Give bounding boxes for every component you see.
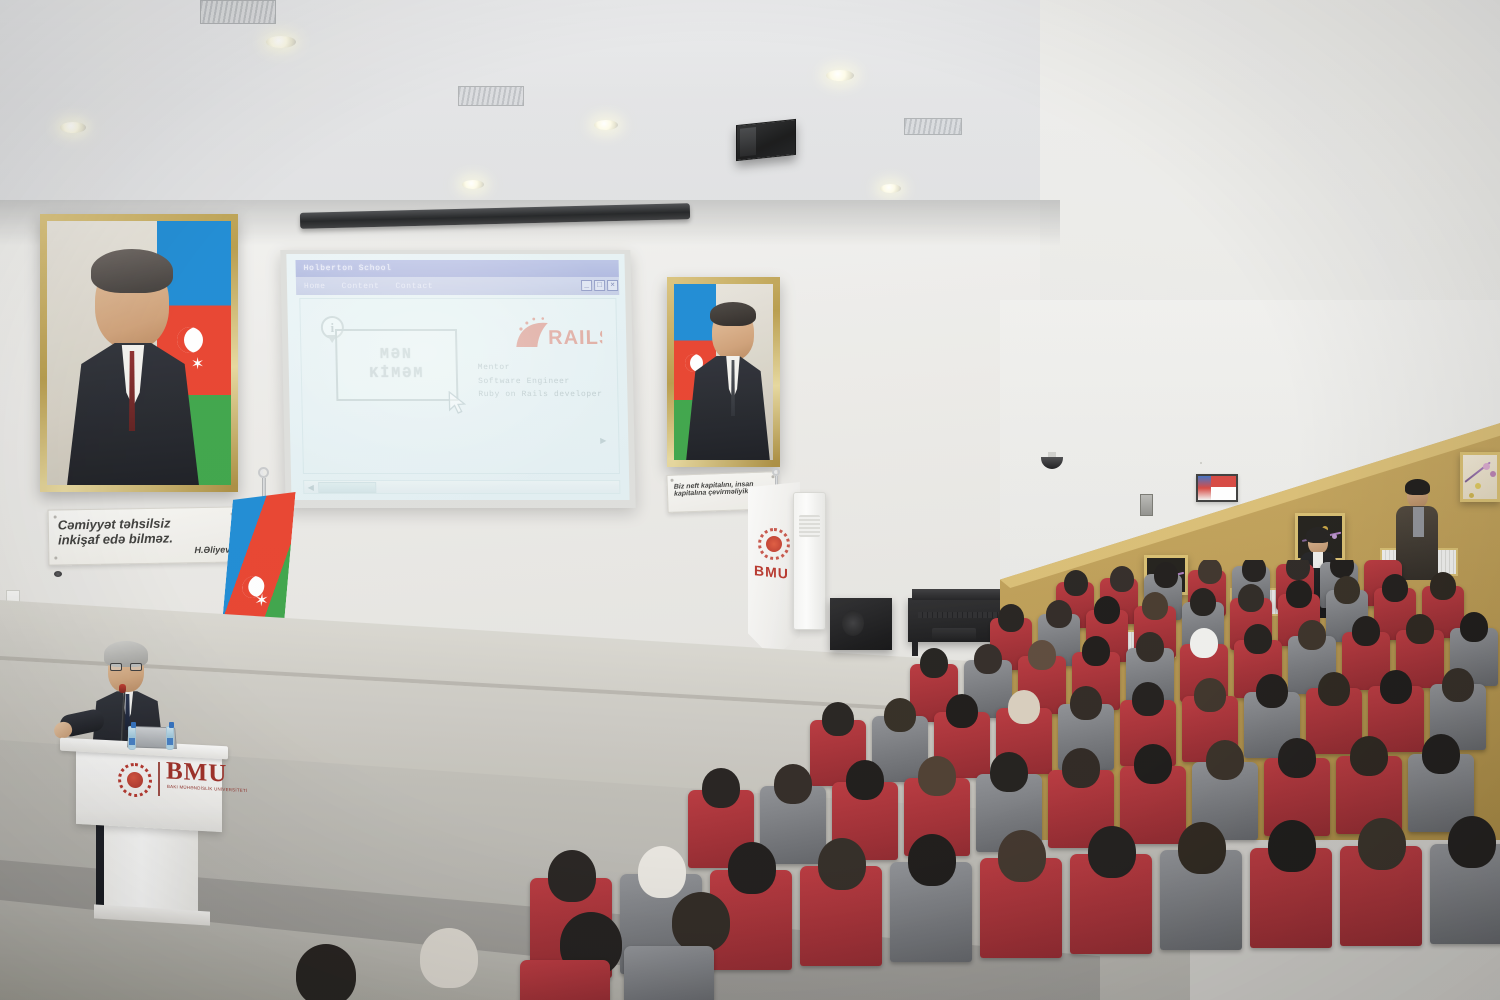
podium-brand-text: BMU [166,758,227,786]
audience-head [638,846,686,898]
slide-bullet-list: Mentor Software Engineer Ruby on Rails d… [478,361,603,402]
electrical-box [1140,494,1153,516]
seat[interactable] [624,946,714,1000]
audience-head [1382,574,1408,602]
audience-head [1110,566,1134,592]
portrait-frame-ilham-aliyev: ✶ [667,277,780,467]
person-hair [1306,527,1330,543]
audience-head [1190,628,1218,658]
audience-head [1154,562,1178,588]
svg-text:RAILS: RAILS [548,327,603,349]
audience-head [1062,748,1100,788]
audience-head [1286,580,1312,608]
downlight [266,36,296,48]
downlight [594,120,618,130]
audience-head [1082,636,1110,666]
menu-item-home[interactable]: Home [304,282,326,291]
projected-slide: Holberton School Home Content Contact _ … [286,254,629,500]
headline-box: MƏN KİMƏM [335,329,459,401]
ceiling-speaker [736,119,796,161]
audience-head [846,760,884,800]
portrait-heydar-aliyev: ✶ [47,221,231,485]
audience-head [1008,690,1040,724]
audience-head [1286,560,1310,580]
downlight [826,70,854,81]
downlight [462,180,484,189]
audience-head [1136,632,1164,662]
audience-head [1178,822,1226,874]
audience-head [1256,674,1288,708]
audience-head [1134,744,1172,784]
portrait-hair [710,302,756,326]
audience-head [822,702,854,736]
audience-head [1238,584,1264,612]
slide-window-title: Holberton School [304,264,392,273]
scroll-left-icon[interactable]: ◀ [304,481,317,493]
podium-logo-divider [158,762,160,796]
audience-head [1142,592,1168,620]
audience-head [884,698,916,732]
audience-head [1242,560,1266,582]
audience-head [920,648,948,678]
safety-notice-sign [1196,474,1238,502]
audience-head [1442,668,1474,702]
maximize-button[interactable]: □ [594,280,605,291]
plaque-heydar-aliyev-quote: Cəmiyyət təhsilsiz inkişaf edə bilməz. H… [48,506,241,565]
slide-bullet-rails: Ruby on Rails developer [478,388,603,402]
slide-bullet-mentor: Mentor [478,361,603,375]
audience-seating [470,560,1500,1000]
bmu-logo-core [127,772,143,789]
audience-head [990,752,1028,792]
auditorium-scene: Holberton School Home Content Contact _ … [0,0,1500,1000]
microphone-icon [119,684,126,693]
water-bottle [128,726,136,750]
audience-head [672,892,730,952]
projection-screen: Holberton School Home Content Contact _ … [280,250,635,508]
portrait-frame-heydar-aliyev: ✶ [40,214,238,492]
close-button[interactable]: × [607,280,618,291]
slide-bullet-engineer: Software Engineer [478,375,603,389]
headline-line-2: KİMƏM [369,365,424,384]
water-bottle [166,726,174,750]
audience-head [998,830,1046,882]
audience-head [420,928,478,988]
slide-content-area: i MƏN KİMƏM [299,298,620,474]
framed-artwork [1460,452,1500,502]
portrait-ilham-aliyev: ✶ [674,284,773,460]
audience-head [918,756,956,796]
audience-head [1350,736,1388,776]
audience-head [1064,570,1088,596]
audience-head [1460,612,1488,642]
scrollbar-thumb[interactable] [318,481,376,492]
smoke-detector-icon [54,571,62,577]
audience-head [1088,826,1136,878]
audience-head [1358,818,1406,870]
person-hair [1405,479,1430,495]
ac-grill [799,515,820,537]
audience-head [1046,600,1072,628]
podium-column [104,821,198,919]
audience-head [1352,616,1380,646]
audience-head [974,644,1002,674]
air-vent [200,0,276,24]
audience-head [1198,560,1222,584]
downlight [880,184,901,193]
audience-head [1298,620,1326,650]
slide-window-titlebar: Holberton School [295,260,618,277]
audience-head [1334,576,1360,604]
bmu-logo-core-icon [766,536,782,552]
portrait-hair [91,249,173,293]
downlight [60,122,86,133]
slide-menubar: Home Content Contact [296,277,619,295]
audience-head [1070,686,1102,720]
scroll-right-icon[interactable]: ▶ [600,436,606,445]
air-vent [458,86,524,106]
flag-finial-icon [258,467,269,478]
headline-line-1: MƏN [380,346,413,365]
minimize-button[interactable]: _ [581,280,592,291]
star-icon: ✶ [254,594,269,608]
audience-head [1190,588,1216,616]
security-camera-icon [1041,452,1063,468]
audience-head [1268,820,1316,872]
audience-head [946,694,978,728]
audience-head [1244,624,1272,654]
audience-head [1094,596,1120,624]
audience-head [1406,614,1434,644]
audience-head [818,838,866,890]
menu-item-contact[interactable]: Contact [395,282,433,291]
audience-head [1132,682,1164,716]
audience-head [1318,672,1350,706]
person-shirt [1413,507,1424,537]
audience-head [548,850,596,902]
glasses-icon [110,663,142,671]
horizontal-scrollbar[interactable]: ◀ [303,480,620,494]
window-controls: _ □ × [581,280,618,291]
audience-head [1448,816,1496,868]
audience-head [1430,572,1456,600]
wall-panel [1200,462,1202,464]
rails-logo-icon: RAILS [512,317,603,351]
audience-head [908,834,956,886]
audience-head [774,764,812,804]
audience-head [998,604,1024,632]
crescent-icon [177,327,203,353]
air-vent [904,118,962,135]
audience-head [296,944,356,1000]
flag-finial-icon [772,468,780,476]
audience-head [1380,670,1412,704]
audience-head [1422,734,1460,774]
star-icon: ✶ [191,358,205,372]
audience-head [728,842,776,894]
audience-head [1028,640,1056,670]
audience-head [1194,678,1226,712]
plaque-signature: H.Əliyev [58,544,230,557]
audience-head [702,768,740,808]
bmu-logo-icon [118,762,152,798]
seat[interactable] [520,960,610,1000]
audience-head [1278,738,1316,778]
menu-item-content[interactable]: Content [342,282,380,291]
audience-head [1206,740,1244,780]
